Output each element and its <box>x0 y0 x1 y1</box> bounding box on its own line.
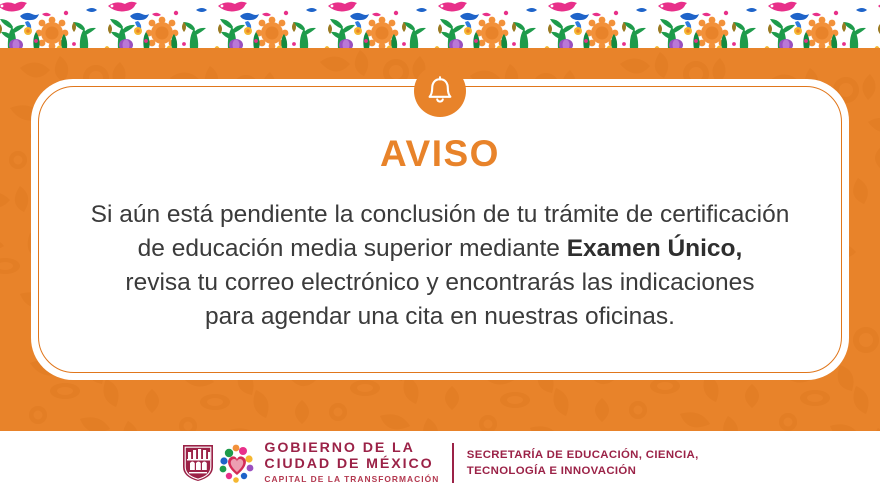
notice-card-inner-border <box>38 86 842 373</box>
gobierno-line-1: GOBIERNO DE LA <box>264 440 439 456</box>
footer-divider <box>452 443 454 483</box>
gobierno-wordmark: GOBIERNO DE LA CIUDAD DE MÉXICO CAPITAL … <box>264 440 439 486</box>
secretaria-line-2: TECNOLOGÍA E INNOVACIÓN <box>467 463 699 480</box>
secretaria-wordmark: SECRETARÍA DE EDUCACIÓN, CIENCIA, TECNOL… <box>467 447 699 480</box>
floral-pattern-band <box>0 0 880 49</box>
footer-emblems <box>181 443 255 483</box>
footer-logo-group: GOBIERNO DE LA CIUDAD DE MÉXICO CAPITAL … <box>181 440 698 486</box>
poster-canvas: AVISO Si aún está pendiente la conclusió… <box>0 0 880 495</box>
secretaria-line-1: SECRETARÍA DE EDUCACIÓN, CIENCIA, <box>467 447 699 464</box>
cdmx-coat-of-arms-icon <box>181 443 215 483</box>
bell-badge <box>414 65 466 117</box>
footer: GOBIERNO DE LA CIUDAD DE MÉXICO CAPITAL … <box>0 431 880 495</box>
bell-icon <box>426 76 454 106</box>
notice-card <box>31 79 849 380</box>
gobierno-line-2: CIUDAD DE MÉXICO <box>264 456 439 472</box>
cdmx-floral-heart-emblem-icon <box>219 443 255 483</box>
floral-pattern-svg <box>0 0 880 49</box>
gobierno-tagline: CAPITAL DE LA TRANSFORMACIÓN <box>264 473 439 486</box>
